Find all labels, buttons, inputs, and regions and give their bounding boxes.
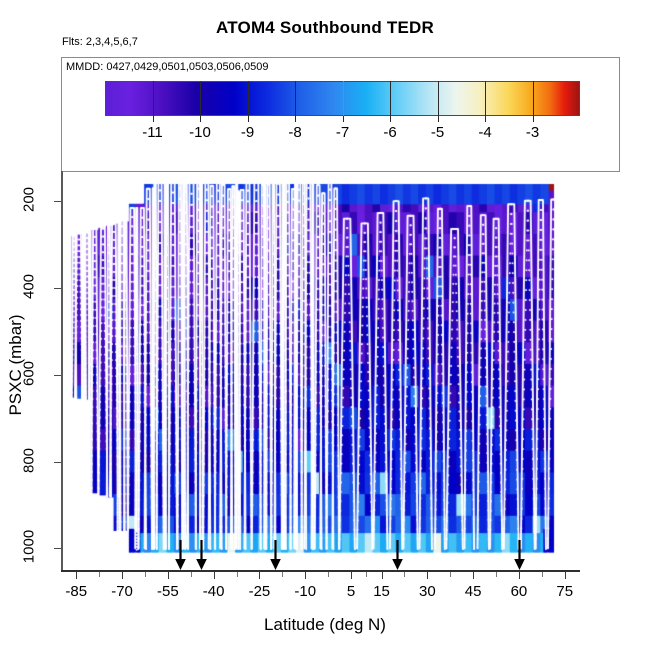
profile-arrow-marker	[195, 540, 208, 570]
colorbar-tick-mark	[485, 116, 486, 122]
colorbar-tick-line	[248, 81, 249, 116]
profile-arrow-marker	[513, 540, 526, 570]
y-tick-label: 1000	[21, 526, 38, 568]
x-tick-minor	[282, 572, 283, 577]
colorbar-tick-line	[485, 81, 486, 116]
y-tick-mark	[54, 375, 61, 376]
colorbar-tick-mark	[533, 116, 534, 122]
colorbar-tick-mark	[295, 116, 296, 122]
heatmap-canvas	[61, 171, 580, 571]
x-tick-mark	[565, 572, 566, 579]
y-tick-mark	[54, 201, 61, 202]
colorbar-tick-mark	[438, 116, 439, 122]
x-tick-minor	[496, 572, 497, 577]
colorbar-tick-line	[200, 81, 201, 116]
x-tick-mark	[351, 572, 352, 579]
colorbar-tick-line	[295, 81, 296, 116]
colorbar-tick-mark	[343, 116, 344, 122]
x-axis-title: Latitude (deg N)	[0, 615, 650, 635]
x-tick-mark	[473, 572, 474, 579]
y-tick-mark	[54, 288, 61, 289]
x-tick-mark	[168, 572, 169, 579]
x-tick-minor	[542, 572, 543, 577]
x-tick-minor	[366, 572, 367, 577]
x-tick-mark	[122, 572, 123, 579]
x-tick-mark	[214, 572, 215, 579]
x-tick-label: 75	[535, 583, 595, 600]
colorbar-tick-line	[390, 81, 391, 116]
page-title: ATOM4 Southbound TEDR	[0, 18, 650, 38]
x-tick-minor	[191, 572, 192, 577]
x-tick-minor	[145, 572, 146, 577]
figure-root: ATOM4 Southbound TEDR Flts: 2,3,4,5,6,7 …	[0, 0, 650, 650]
x-tick-mark	[427, 572, 428, 579]
x-tick-mark	[259, 572, 260, 579]
heatmap-data-area	[61, 171, 580, 571]
colorbar-tick-mark	[390, 116, 391, 122]
x-tick-mark	[382, 572, 383, 579]
y-tick-mark	[54, 462, 61, 463]
y-axis-title: PSXC (mbar)	[6, 265, 26, 465]
x-tick-minor	[99, 572, 100, 577]
colorbar-tick-label: -3	[503, 124, 563, 141]
flights-label: Flts: 2,3,4,5,6,7	[62, 36, 138, 48]
x-tick-mark	[76, 572, 77, 579]
colorbar-tick-mark	[153, 116, 154, 122]
colorbar-tick-line	[533, 81, 534, 116]
x-tick-minor	[237, 572, 238, 577]
colorbar-tick-mark	[248, 116, 249, 122]
colorbar-tick-line	[438, 81, 439, 116]
x-tick-minor	[450, 572, 451, 577]
profile-arrow-marker	[174, 540, 187, 570]
mmdd-label: MMDD: 0427,0429,0501,0503,0506,0509	[66, 61, 268, 73]
y-tick-mark	[54, 548, 61, 549]
x-tick-mark	[305, 572, 306, 579]
colorbar-tick-line	[343, 81, 344, 116]
colorbar-tick-line	[153, 81, 154, 116]
profile-arrow-marker	[391, 540, 404, 570]
x-tick-mark	[519, 572, 520, 579]
y-tick-label: 200	[21, 179, 38, 221]
colorbar-tick-mark	[200, 116, 201, 122]
x-tick-minor	[328, 572, 329, 577]
x-tick-minor	[404, 572, 405, 577]
profile-arrow-marker	[269, 540, 282, 570]
